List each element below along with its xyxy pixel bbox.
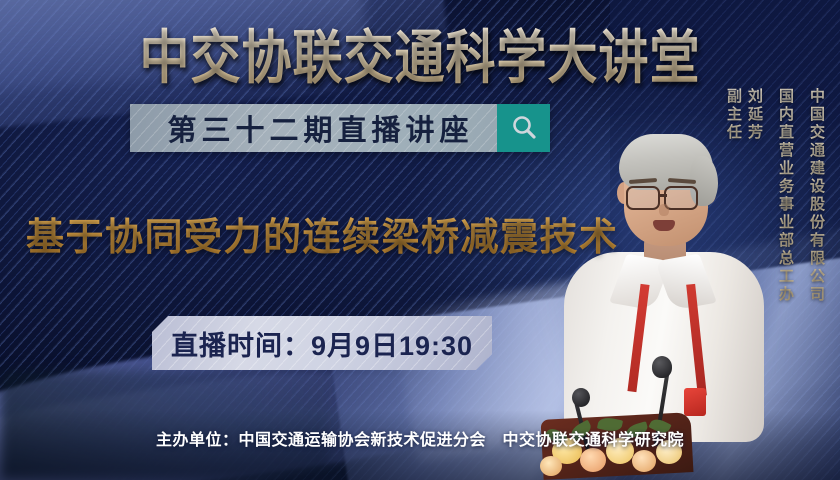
lecture-headline: 基于协同受力的连续梁桥减震技术 bbox=[26, 206, 619, 261]
broadcast-time-box: 直播时间：9月9日19:30 bbox=[152, 316, 492, 370]
flower bbox=[540, 456, 562, 476]
microphone-head-primary bbox=[652, 356, 672, 378]
broadcast-time-label: 直播时间：9月9日19:30 bbox=[171, 324, 473, 363]
speaker-glasses-left bbox=[626, 186, 660, 210]
subtitle-bar: 第三十二期直播讲座 bbox=[130, 104, 550, 152]
search-icon[interactable] bbox=[497, 104, 550, 152]
speaker-role: 副主任 bbox=[723, 88, 744, 142]
speaker-name-block: 刘延芳 副主任 bbox=[718, 88, 770, 142]
speaker-credits: 刘延芳 副主任 国内直营业务事业部总工办 中国交通建设股份有限公司 bbox=[718, 88, 832, 304]
promo-banner: 中交协联交通科学大讲堂 中交协联交通科学大讲堂 第三十二期直播讲座 基于协同受力… bbox=[0, 0, 840, 480]
page-title: 中交协联交通科学大讲堂 bbox=[0, 24, 840, 91]
microphone-head-secondary bbox=[572, 388, 590, 407]
flower bbox=[632, 450, 656, 472]
speaker-glasses-bridge bbox=[659, 194, 667, 197]
speaker-name: 刘延芳 bbox=[744, 88, 765, 142]
speaker-glasses-right bbox=[664, 186, 698, 210]
speaker-organization: 中国交通建设股份有限公司 bbox=[801, 88, 832, 304]
speaker-mouth bbox=[653, 220, 675, 231]
speaker-nose bbox=[659, 204, 669, 216]
flower bbox=[580, 448, 606, 472]
speaker-department: 国内直营业务事业部总工办 bbox=[770, 88, 801, 304]
organizers-line: 主办单位：中国交通运输协会新技术促进分会 中交协联交通科学研究院 bbox=[0, 426, 840, 450]
subtitle-label: 第三十二期直播讲座 bbox=[130, 107, 497, 149]
